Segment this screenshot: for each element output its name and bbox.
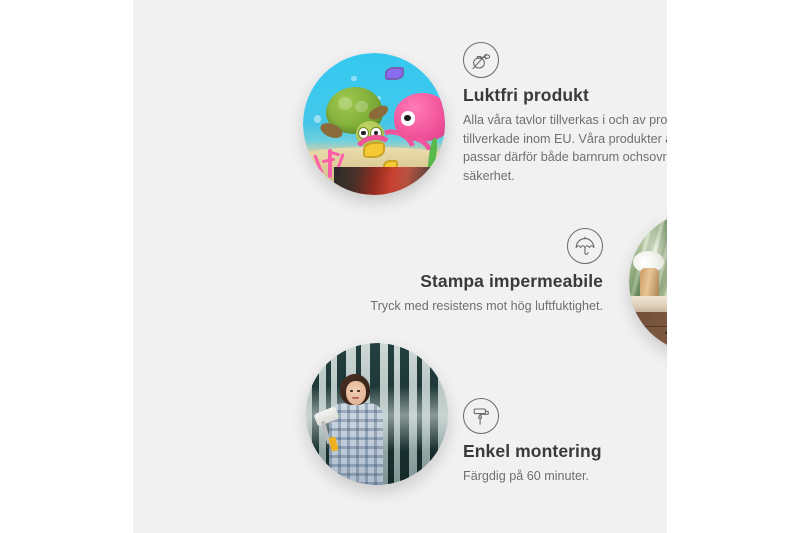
feature-description: Tryck med resistens mot hög luftfuktighe…: [333, 297, 603, 316]
feature-easy-mount: Enkel montering Färgdig på 60 minuter.: [463, 398, 667, 486]
no-odour-perfume-icon: [463, 42, 499, 78]
feature-title: Luktfri produkt: [463, 85, 667, 106]
feature-description: Färgdig på 60 minuter.: [463, 467, 667, 486]
infographic-stage: Luktfri produkt Alla våra tavlor tillver…: [0, 0, 800, 533]
image-underwater-cartoon-mural: [303, 53, 445, 195]
umbrella-icon: [567, 228, 603, 264]
image-painter-woman-forest-wallpaper: [306, 343, 448, 485]
content-panel: Luktfri produkt Alla våra tavlor tillver…: [133, 0, 667, 533]
paint-roller-icon: [463, 398, 499, 434]
feature-title: Enkel montering: [463, 441, 667, 462]
feature-waterproof: Stampa impermeabile Tryck med resistens …: [333, 228, 603, 316]
icon-row: [463, 42, 667, 78]
feature-description: Alla våra tavlor tillverkas i och av pro…: [463, 111, 667, 185]
feature-odourless: Luktfri produkt Alla våra tavlor tillver…: [463, 42, 667, 185]
icon-row: [333, 228, 603, 264]
image-bathroom-botanical-wallpaper: [629, 211, 667, 353]
feature-title: Stampa impermeabile: [333, 271, 603, 292]
icon-row: [463, 398, 667, 434]
